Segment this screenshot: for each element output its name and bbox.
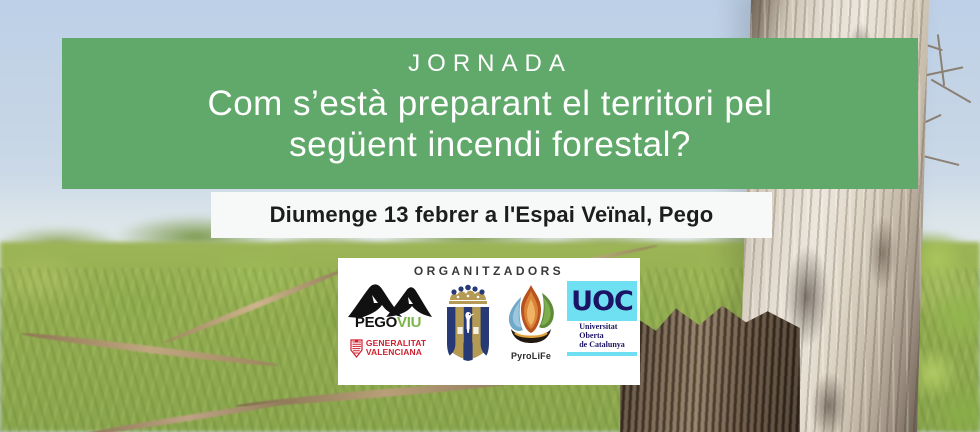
pegoviu-word-accent: VIU [397, 314, 421, 331]
headline-line-1: Com s’està preparant el territori pel [207, 84, 772, 125]
event-kicker: JORNADA [408, 52, 572, 76]
date-bar: Diumenge 13 febrer a l'Espai Veïnal, Peg… [211, 192, 772, 238]
flame-leaf-drop-icon [501, 281, 561, 350]
uoc-sub-line-3: de Catalunya [579, 341, 625, 350]
uoc-underline [567, 352, 637, 356]
pego-coat-of-arms-icon [441, 281, 495, 366]
event-poster: JORNADA Com s’està preparant el territor… [0, 0, 980, 432]
gva-line-2: VALENCIANA [366, 348, 426, 357]
pegoviu-logo: PEGOVIU [341, 281, 435, 330]
organizer-logos: PEGOVIU GENERALITAT VALENCIANA [338, 281, 640, 366]
organizers-title: ORGANITZADORS [414, 265, 564, 277]
uoc-subtitle: Universitat Oberta de Catalunya [579, 323, 625, 350]
uoc-letters: UOC [571, 288, 633, 315]
uoc-logo-icon: UOC [567, 281, 637, 321]
headline-line-2: següent incendi forestal? [289, 125, 691, 166]
pegoviu-word-dark: PEGO [355, 314, 397, 331]
logo-pegoviu-gva: PEGOVIU GENERALITAT VALENCIANA [341, 281, 435, 357]
headline-banner: JORNADA Com s’està preparant el territor… [62, 38, 918, 189]
rat-penat-shield-icon [350, 339, 363, 357]
event-date-location: Diumenge 13 febrer a l'Espai Veïnal, Peg… [270, 202, 714, 228]
pyrolife-wordmark: PyroLiFe [511, 351, 551, 361]
logo-ajuntament-pego [441, 281, 495, 366]
generalitat-valenciana-wordmark: GENERALITAT VALENCIANA [366, 339, 426, 357]
pegoviu-wordmark: PEGOVIU [341, 315, 435, 330]
organizers-card: ORGANITZADORS PEGOVIU [338, 258, 640, 385]
logo-uoc: UOC Universitat Oberta de Catalunya [567, 281, 637, 356]
logo-pyrolife: PyroLiFe [501, 281, 561, 361]
generalitat-valenciana-logo: GENERALITAT VALENCIANA [350, 339, 426, 357]
